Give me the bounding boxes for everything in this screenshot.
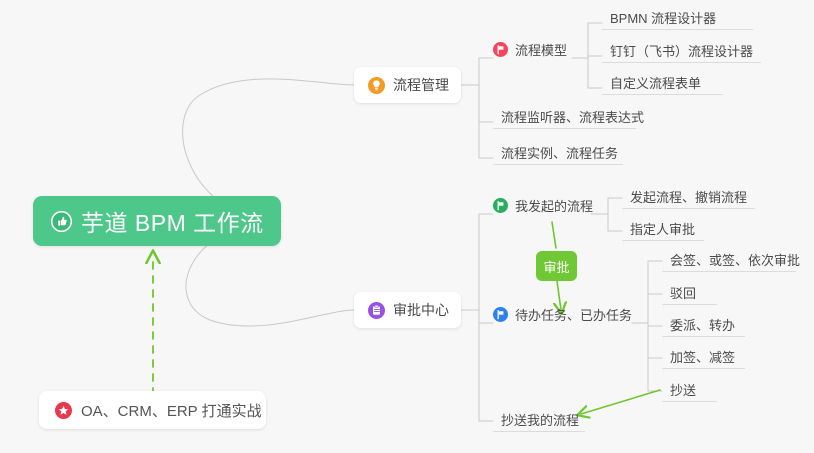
leaf-label-process-model: 流程模型 xyxy=(515,40,567,59)
approval-badge-label: 审批 xyxy=(543,257,569,276)
flag-icon xyxy=(493,42,508,57)
leaf-label-custom-form: 自定义流程表单 xyxy=(610,73,701,92)
leaf-label-reject: 驳回 xyxy=(670,283,696,302)
leaf-label-my-started-process: 我发起的流程 xyxy=(515,196,593,215)
leaf-node-multi-sign[interactable]: 会签、或签、依次审批 xyxy=(662,250,796,272)
branch-node-approval-center[interactable]: 审批中心 xyxy=(354,292,461,328)
leaf-node-process-model[interactable]: 流程模型 xyxy=(493,41,572,59)
leaf-label-carbon-copy: 抄送 xyxy=(670,380,696,399)
leaf-node-process-instance[interactable]: 流程实例、流程任务 xyxy=(493,143,623,165)
leaf-label-cc-my-process: 抄送我的流程 xyxy=(501,410,579,429)
leaf-label-start-cancel-process: 发起流程、撤销流程 xyxy=(630,187,747,206)
thumbs-up-icon xyxy=(51,211,72,232)
leaf-node-add-remove-sign[interactable]: 加签、减签 xyxy=(662,347,745,369)
branch-label-process-management: 流程管理 xyxy=(393,75,449,95)
mindmap-canvas: 芋道 BPM 工作流 流程管理 流程模型 BPMN 流程设计器 钉钉（飞书）流 xyxy=(0,0,814,453)
clipboard-icon xyxy=(368,302,385,319)
leaf-node-bpmn-designer[interactable]: BPMN 流程设计器 xyxy=(602,8,753,30)
branch-node-process-management[interactable]: 流程管理 xyxy=(354,67,461,103)
root-node[interactable]: 芋道 BPM 工作流 xyxy=(33,196,281,246)
root-label: 芋道 BPM 工作流 xyxy=(81,204,264,238)
leaf-node-custom-form[interactable]: 自定义流程表单 xyxy=(602,73,723,95)
branch-label-approval-center: 审批中心 xyxy=(393,300,449,320)
leaf-node-assignee-approval[interactable]: 指定人审批 xyxy=(622,219,704,241)
leaf-label-process-instance: 流程实例、流程任务 xyxy=(501,143,618,162)
leaf-node-carbon-copy[interactable]: 抄送 xyxy=(662,380,717,402)
note-card[interactable]: OA、CRM、ERP 打通实战 xyxy=(39,391,266,429)
leaf-node-dingtalk-designer[interactable]: 钉钉（飞书）流程设计器 xyxy=(602,41,761,63)
leaf-node-my-started-process[interactable]: 我发起的流程 xyxy=(493,197,591,215)
leaf-label-multi-sign: 会签、或签、依次审批 xyxy=(670,250,800,269)
leaf-label-dingtalk-designer: 钉钉（飞书）流程设计器 xyxy=(610,41,753,60)
leaf-node-process-listener[interactable]: 流程监听器、流程表达式 xyxy=(493,107,636,129)
leaf-node-reject[interactable]: 驳回 xyxy=(662,283,717,305)
leaf-label-add-remove-sign: 加签、减签 xyxy=(670,347,735,366)
star-icon xyxy=(55,402,72,419)
leaf-node-start-cancel-process[interactable]: 发起流程、撤销流程 xyxy=(622,187,755,209)
leaf-label-delegate-transfer: 委派、转办 xyxy=(670,315,735,334)
lightbulb-icon xyxy=(368,77,385,94)
leaf-label-bpmn-designer: BPMN 流程设计器 xyxy=(610,8,716,27)
leaf-node-cc-my-process[interactable]: 抄送我的流程 xyxy=(493,410,585,432)
note-card-label: OA、CRM、ERP 打通实战 xyxy=(81,400,262,421)
approval-badge[interactable]: 审批 xyxy=(536,251,577,281)
flag-icon xyxy=(493,198,508,213)
flag-icon xyxy=(493,307,508,322)
leaf-label-assignee-approval: 指定人审批 xyxy=(630,219,695,238)
leaf-node-todo-done-tasks[interactable]: 待办任务、已办任务 xyxy=(493,306,632,324)
leaf-label-todo-done-tasks: 待办任务、已办任务 xyxy=(515,305,632,324)
leaf-node-delegate-transfer[interactable]: 委派、转办 xyxy=(662,315,745,337)
leaf-label-process-listener: 流程监听器、流程表达式 xyxy=(501,107,644,126)
